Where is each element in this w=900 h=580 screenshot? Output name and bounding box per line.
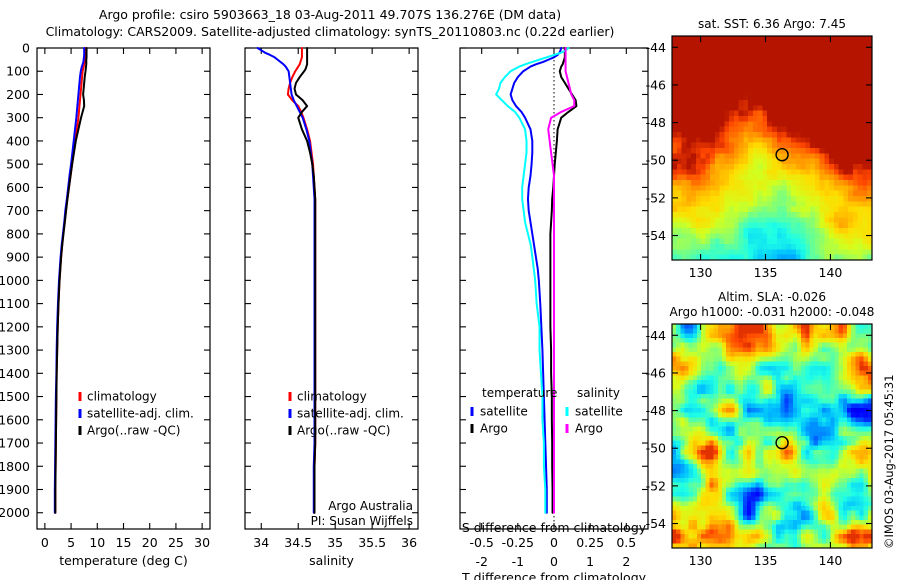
map-cell: [862, 116, 867, 122]
map-cell: [739, 164, 744, 170]
map-cell: [791, 228, 796, 234]
map-cell: [801, 175, 806, 181]
map-cell: [758, 212, 763, 218]
map-cell: [789, 427, 794, 432]
map-cell: [724, 36, 729, 42]
map-cell: [676, 459, 681, 464]
map-cell: [814, 399, 819, 404]
map-cell: [862, 79, 867, 85]
map-cell: [705, 63, 710, 69]
map-cell: [791, 212, 796, 218]
map-cell: [818, 441, 823, 446]
map-cell: [739, 79, 744, 85]
x-tick-label: 35: [327, 535, 343, 550]
map-cell: [801, 105, 806, 111]
map-cell: [718, 539, 723, 544]
map-cell: [743, 239, 748, 245]
depth-tick-label: 1700: [0, 436, 30, 451]
map-cell: [835, 338, 840, 343]
map-cell: [726, 338, 731, 343]
map-cell: [672, 207, 677, 213]
map-cell: [758, 111, 763, 117]
map-cell: [791, 191, 796, 197]
map-cell: [848, 95, 853, 101]
map-cell: [797, 366, 802, 371]
map-cell: [701, 36, 706, 42]
map-cell: [860, 366, 865, 371]
map-cell: [793, 385, 798, 390]
map-cell: [743, 228, 748, 234]
map-cell: [739, 159, 744, 165]
map-cell: [696, 191, 701, 197]
map-cell: [815, 52, 820, 58]
map-cell: [851, 464, 856, 469]
map-cell: [689, 408, 694, 413]
map-cell: [843, 68, 848, 74]
map-cell: [824, 207, 829, 213]
map-cell: [785, 520, 790, 525]
map-cell: [810, 445, 815, 450]
map-cell: [801, 455, 806, 460]
map-cell: [839, 249, 844, 255]
map-cell: [739, 68, 744, 74]
map-cell: [768, 329, 773, 334]
map-cell: [739, 324, 744, 329]
map-cell: [855, 352, 860, 357]
map-cell: [760, 492, 765, 497]
map-cell: [777, 169, 782, 175]
map-cell: [735, 483, 740, 488]
map-cell: [862, 68, 867, 74]
map-cell: [801, 422, 806, 427]
map-cell: [860, 375, 865, 380]
map-cell: [735, 539, 740, 544]
map-cell: [826, 441, 831, 446]
map-cell: [691, 217, 696, 223]
legend-label: satellite: [480, 405, 528, 419]
map-cell: [672, 52, 677, 58]
map-cell: [835, 431, 840, 436]
map-cell: [705, 95, 710, 101]
map-cell: [751, 441, 756, 446]
map-cell: [843, 492, 848, 497]
map-cell: [764, 511, 769, 516]
map-cell: [696, 207, 701, 213]
map-cell: [796, 84, 801, 90]
map-cell: [677, 41, 682, 47]
map-cell: [830, 427, 835, 432]
map-cell: [772, 469, 777, 474]
map-cell: [710, 79, 715, 85]
map-cell: [726, 357, 731, 362]
map-cell: [758, 223, 763, 229]
map-cell: [829, 143, 834, 149]
map-cell: [829, 68, 834, 74]
map-cell: [672, 413, 677, 418]
map-cell: [843, 506, 848, 511]
map-cell: [839, 464, 844, 469]
map-cell: [715, 159, 720, 165]
map-cell: [786, 207, 791, 213]
map-cell: [789, 361, 794, 366]
map-cell: [843, 539, 848, 544]
map-cell: [760, 501, 765, 506]
map-cell: [801, 185, 806, 191]
map-cell: [701, 127, 706, 133]
map-cell: [789, 515, 794, 520]
map-cell: [839, 403, 844, 408]
map-cell: [720, 41, 725, 47]
map-cell: [724, 159, 729, 165]
map-cell: [780, 385, 785, 390]
map-cell: [722, 408, 727, 413]
map-cell: [718, 436, 723, 441]
map-cell: [701, 196, 706, 202]
map-cell: [680, 436, 685, 441]
map-cell: [710, 100, 715, 106]
map-cell: [734, 175, 739, 181]
map-cell: [715, 164, 720, 170]
map-cell: [835, 371, 840, 376]
map-cell: [701, 436, 706, 441]
map-cell: [672, 436, 677, 441]
map-cell: [776, 520, 781, 525]
map-cell: [689, 380, 694, 385]
map-cell: [760, 529, 765, 534]
map-cell: [748, 105, 753, 111]
map-cell: [701, 244, 706, 250]
map-cell: [714, 539, 719, 544]
map-cell: [797, 469, 802, 474]
map-cell: [693, 422, 698, 427]
map-cell: [680, 403, 685, 408]
map-cell: [786, 63, 791, 69]
map-cell: [839, 137, 844, 143]
map-cell: [801, 394, 806, 399]
map-cell: [822, 515, 827, 520]
map-cell: [718, 422, 723, 427]
map-cell: [772, 116, 777, 122]
map-cell: [767, 244, 772, 250]
map-cell: [853, 244, 858, 250]
map-cell: [722, 469, 727, 474]
map-cell: [822, 501, 827, 506]
map-cell: [830, 422, 835, 427]
map-cell: [747, 473, 752, 478]
map-cell: [776, 450, 781, 455]
map-cell: [839, 41, 844, 47]
map-cell: [685, 366, 690, 371]
map-cell: [797, 352, 802, 357]
map-cell: [847, 483, 852, 488]
map-cell: [672, 223, 677, 229]
map-cell: [785, 399, 790, 404]
map-cell: [776, 329, 781, 334]
map-cell: [762, 148, 767, 154]
map-cell: [730, 333, 735, 338]
map-cell: [724, 105, 729, 111]
map-cell: [764, 501, 769, 506]
map-cell: [682, 116, 687, 122]
map-cell: [753, 196, 758, 202]
map-cell: [858, 68, 863, 74]
map-cell: [755, 403, 760, 408]
map-cell: [710, 89, 715, 95]
s-tick-label: 0.5: [616, 535, 636, 550]
map-cell: [767, 57, 772, 63]
map-cell: [730, 469, 735, 474]
map-cell: [820, 89, 825, 95]
map-cell: [672, 343, 677, 348]
map-cell: [791, 143, 796, 149]
map-cell: [793, 487, 798, 492]
map-cell: [691, 249, 696, 255]
map-cell: [851, 525, 856, 530]
map-cell: [826, 403, 831, 408]
map-cell: [789, 347, 794, 352]
map-cell: [739, 116, 744, 122]
map-cell: [829, 132, 834, 138]
map-cell: [730, 371, 735, 376]
map-cell: [767, 175, 772, 181]
map-cell: [772, 105, 777, 111]
map-cell: [701, 441, 706, 446]
map-cell: [762, 212, 767, 218]
map-cell: [747, 497, 752, 502]
map-cell: [734, 164, 739, 170]
map-cell: [791, 223, 796, 229]
map-cell: [839, 324, 844, 329]
s-tick-label: -0.5: [469, 535, 493, 550]
map-cell: [672, 469, 677, 474]
map-cell: [760, 431, 765, 436]
map-cell: [710, 111, 715, 117]
map-cell: [785, 371, 790, 376]
map-cell: [822, 357, 827, 362]
map-cell: [705, 347, 710, 352]
map-cell: [747, 515, 752, 520]
map-cell: [839, 520, 844, 525]
map-cell: [791, 47, 796, 53]
map-cell: [776, 357, 781, 362]
map-cell: [810, 324, 815, 329]
map-cell: [864, 338, 869, 343]
map-cell: [724, 233, 729, 239]
map-cell: [776, 399, 781, 404]
map-cell: [718, 492, 723, 497]
map-cell: [793, 469, 798, 474]
map-cell: [718, 394, 723, 399]
map-cell: [777, 47, 782, 53]
map-cell: [758, 127, 763, 133]
legend-label: satellite: [575, 405, 623, 419]
map-cell: [805, 497, 810, 502]
map-cell: [689, 459, 694, 464]
map-cell: [858, 175, 863, 181]
map-cell: [739, 534, 744, 539]
map-cell: [676, 501, 681, 506]
map-cell: [826, 529, 831, 534]
map-cell: [697, 422, 702, 427]
map-cell: [820, 175, 825, 181]
map-cell: [797, 338, 802, 343]
map-cell: [705, 47, 710, 53]
map-cell: [858, 143, 863, 149]
map-cell: [689, 422, 694, 427]
map-cell: [797, 413, 802, 418]
map-cell: [726, 422, 731, 427]
map-cell: [843, 427, 848, 432]
map-cell: [685, 539, 690, 544]
map-cell: [768, 394, 773, 399]
map-cell: [747, 487, 752, 492]
map-cell: [860, 403, 865, 408]
map-cell: [760, 483, 765, 488]
map-cell: [834, 68, 839, 74]
map-cell: [805, 143, 810, 149]
map-cell: [722, 492, 727, 497]
map-cell: [858, 228, 863, 234]
map-cell: [805, 529, 810, 534]
map-cell: [848, 52, 853, 58]
map-cell: [672, 185, 677, 191]
map-cell: [714, 515, 719, 520]
map-cell: [789, 473, 794, 478]
map-cell: [753, 175, 758, 181]
map-cell: [693, 450, 698, 455]
map-cell: [768, 352, 773, 357]
map-cell: [718, 464, 723, 469]
map-cell: [810, 41, 815, 47]
map-cell: [839, 515, 844, 520]
map-cell: [772, 143, 777, 149]
map-cell: [847, 422, 852, 427]
depth-tick-label: 1100: [0, 296, 30, 311]
map-cell: [693, 324, 698, 329]
map-cell: [682, 212, 687, 218]
map-cell: [810, 143, 815, 149]
map-cell: [722, 394, 727, 399]
map-cell: [758, 148, 763, 154]
map-cell: [843, 389, 848, 394]
map-cell: [801, 357, 806, 362]
map-cell: [762, 201, 767, 207]
lat-tick-label: -46: [646, 365, 666, 380]
map-cell: [686, 223, 691, 229]
map-cell: [760, 380, 765, 385]
map-cell: [696, 79, 701, 85]
map-cell: [751, 389, 756, 394]
map-cell: [848, 175, 853, 181]
map-cell: [818, 487, 823, 492]
map-cell: [685, 375, 690, 380]
map-cell: [730, 338, 735, 343]
map-cell: [685, 431, 690, 436]
map-cell: [780, 459, 785, 464]
map-cell: [864, 455, 869, 460]
map-cell: [862, 57, 867, 63]
map-cell: [753, 185, 758, 191]
map-cell: [855, 483, 860, 488]
map-cell: [815, 137, 820, 143]
map-cell: [689, 529, 694, 534]
map-cell: [724, 175, 729, 181]
map-cell: [705, 473, 710, 478]
map-cell: [839, 422, 844, 427]
map-cell: [785, 511, 790, 516]
map-cell: [710, 459, 715, 464]
map-cell: [805, 57, 810, 63]
map-cell: [820, 100, 825, 106]
map-cell: [860, 529, 865, 534]
map-cell: [726, 385, 731, 390]
map-cell: [730, 520, 735, 525]
map-cell: [797, 511, 802, 516]
map-cell: [724, 121, 729, 127]
map-cell: [797, 399, 802, 404]
map-cell: [801, 506, 806, 511]
map-cell: [820, 164, 825, 170]
map-cell: [726, 394, 731, 399]
map-cell: [772, 459, 777, 464]
map-cell: [805, 464, 810, 469]
map-cell: [689, 501, 694, 506]
map-cell: [753, 105, 758, 111]
map-cell: [676, 338, 681, 343]
map-cell: [810, 487, 815, 492]
map-cell: [680, 394, 685, 399]
map-cell: [718, 529, 723, 534]
map-cell: [743, 422, 748, 427]
map-cell: [820, 68, 825, 74]
map-cell: [818, 431, 823, 436]
map-cell: [815, 233, 820, 239]
map-cell: [753, 41, 758, 47]
map-cell: [724, 84, 729, 90]
map-cell: [676, 417, 681, 422]
map-cell: [782, 89, 787, 95]
map-cell: [747, 459, 752, 464]
map-cell: [847, 478, 852, 483]
map-cell: [710, 207, 715, 213]
map-cell: [805, 159, 810, 165]
map-cell: [789, 333, 794, 338]
map-cell: [720, 111, 725, 117]
map-cell: [864, 343, 869, 348]
map-cell: [767, 79, 772, 85]
map-cell: [810, 394, 815, 399]
map-cell: [730, 455, 735, 460]
map-cell: [743, 52, 748, 58]
map-cell: [851, 343, 856, 348]
map-cell: [829, 148, 834, 154]
map-cell: [696, 175, 701, 181]
map-cell: [858, 207, 863, 213]
map-cell: [767, 95, 772, 101]
map-cell: [851, 455, 856, 460]
map-cell: [705, 389, 710, 394]
map-cell: [796, 228, 801, 234]
map-cell: [743, 207, 748, 213]
map-cell: [776, 408, 781, 413]
map-cell: [689, 343, 694, 348]
map-cell: [753, 95, 758, 101]
map-cell: [691, 196, 696, 202]
map-cell: [710, 539, 715, 544]
map-cell: [815, 57, 820, 63]
map-cell: [718, 413, 723, 418]
map-cell: [843, 525, 848, 530]
